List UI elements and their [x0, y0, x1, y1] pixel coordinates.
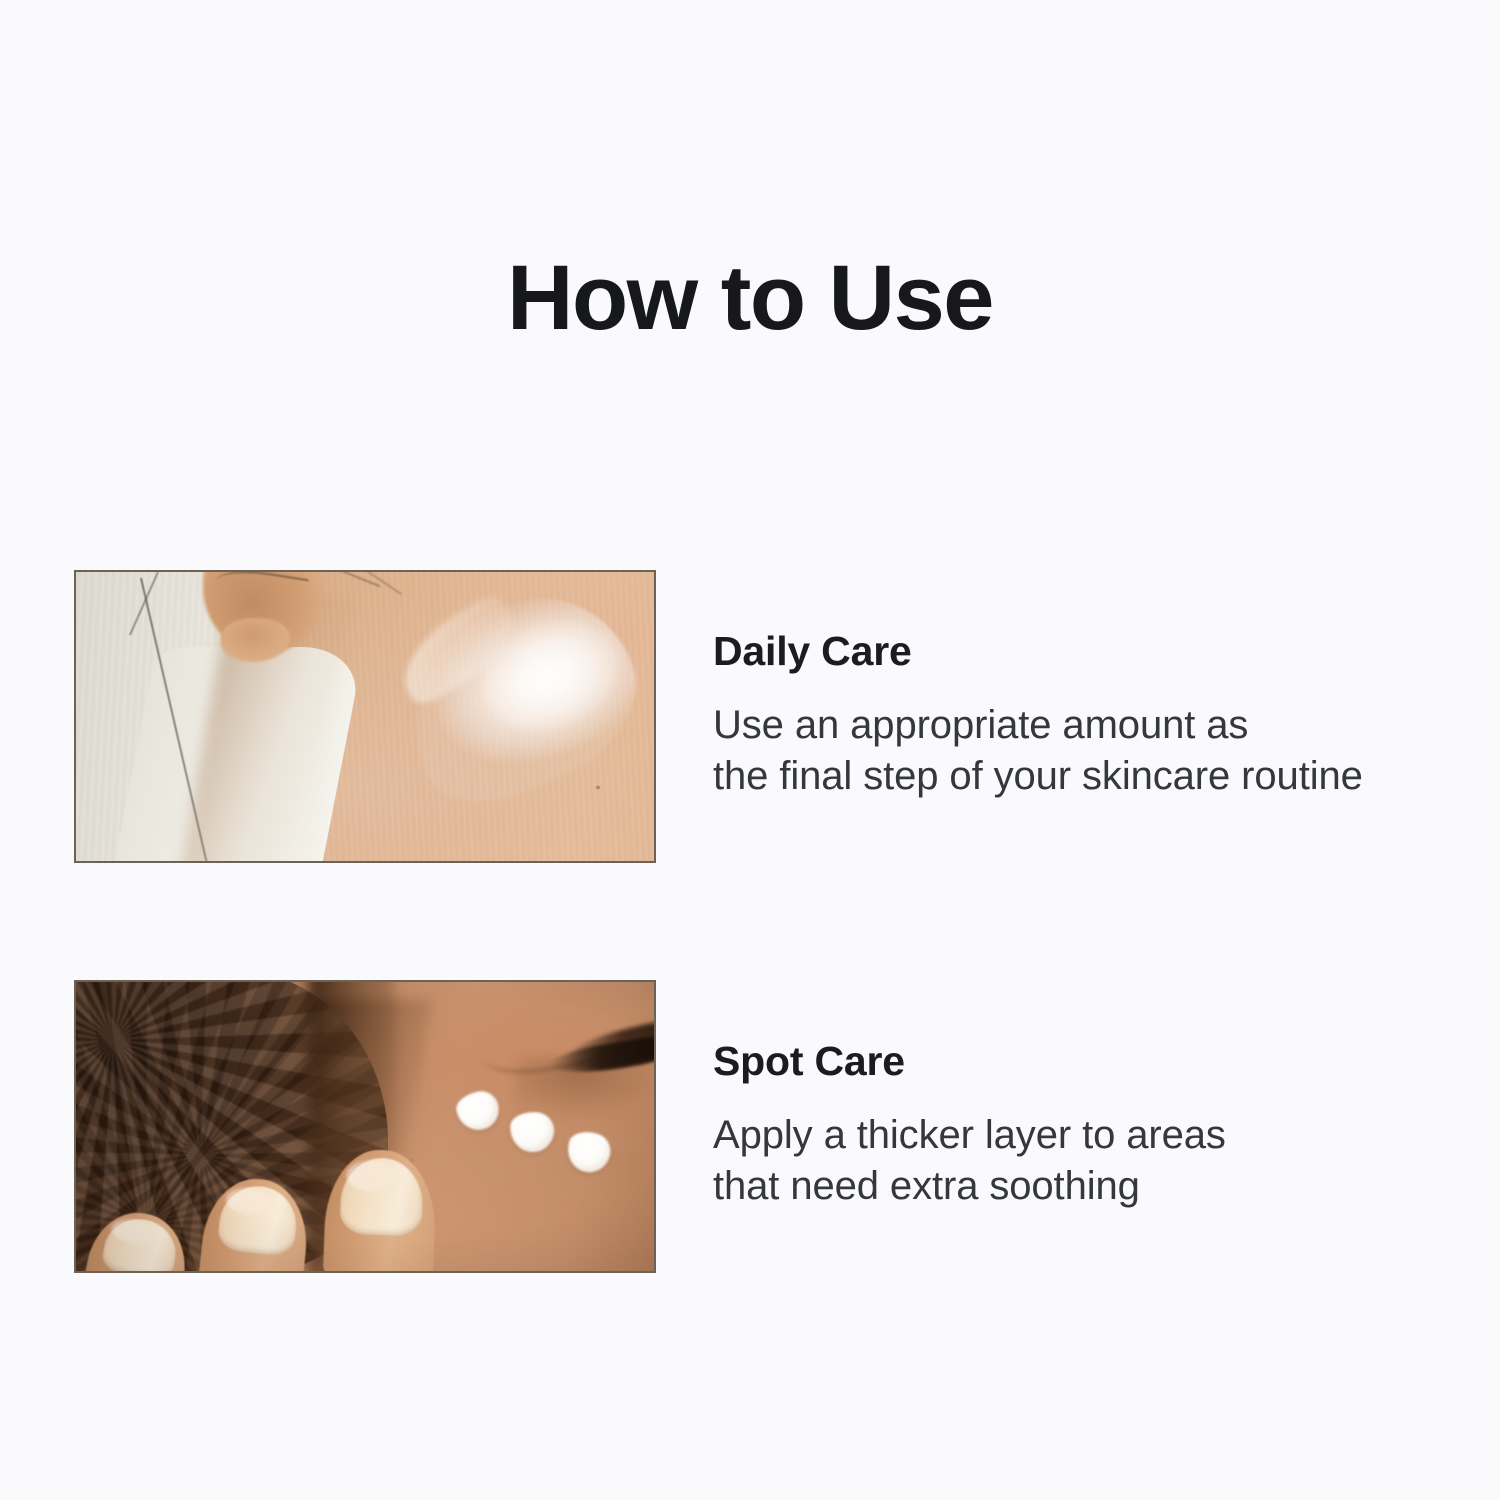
- spot-care-heading: Spot Care: [713, 980, 1453, 1084]
- daily-care-text-block: Daily Care Use an appropriate amount as …: [713, 570, 1453, 802]
- spot-care-body-line-1: Apply a thicker layer to areas: [713, 1110, 1453, 1161]
- skin-mole-shape: [596, 786, 600, 789]
- spot-care-body: Apply a thicker layer to areas that need…: [713, 1084, 1453, 1212]
- daily-care-photo-inner: [76, 572, 654, 861]
- step-row-daily-care: Daily Care Use an appropriate amount as …: [74, 570, 1454, 863]
- how-to-use-page: How to Use Daily Care: [0, 0, 1500, 1500]
- daily-care-heading: Daily Care: [713, 570, 1453, 674]
- photo-vignette: [76, 982, 654, 1271]
- daily-care-body-line-2: the final step of your skincare routine: [713, 751, 1453, 802]
- step-row-spot-care: Spot Care Apply a thicker layer to areas…: [74, 980, 1454, 1273]
- spot-care-text-block: Spot Care Apply a thicker layer to areas…: [713, 980, 1453, 1212]
- daily-care-body-line-1: Use an appropriate amount as: [713, 700, 1453, 751]
- daily-care-photo: [74, 570, 656, 863]
- spot-care-body-line-2: that need extra soothing: [713, 1161, 1453, 1212]
- spot-care-photo-inner: [76, 982, 654, 1271]
- daily-care-body: Use an appropriate amount as the final s…: [713, 674, 1453, 802]
- page-title: How to Use: [0, 252, 1500, 344]
- spot-care-photo: [74, 980, 656, 1273]
